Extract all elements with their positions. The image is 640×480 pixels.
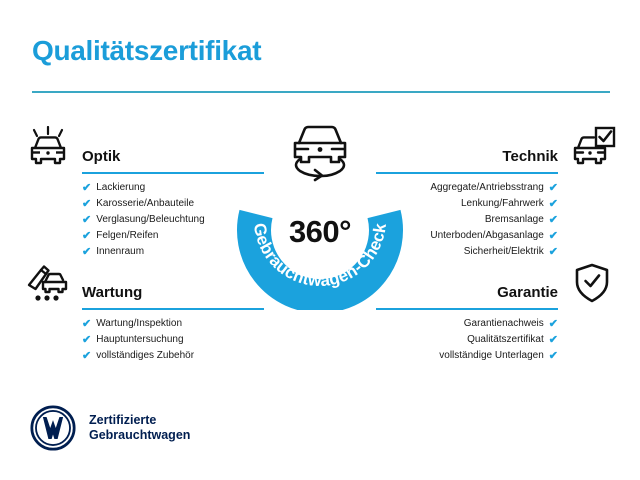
check-icon: ✔ bbox=[549, 335, 558, 346]
list-item: Qualitätszertifikat✔ bbox=[366, 332, 558, 348]
list-item-label: Lackierung bbox=[96, 180, 145, 196]
check-icon: ✔ bbox=[82, 247, 91, 258]
footer-line-2: Gebrauchtwagen bbox=[89, 428, 190, 443]
title-divider bbox=[32, 91, 610, 93]
360-check-badge: Gebrauchtwagen-Check 360° bbox=[236, 120, 404, 310]
section-title: Optik bbox=[82, 149, 120, 164]
check-icon: ✔ bbox=[549, 183, 558, 194]
footer-text: Zertifizierte Gebrauchtwagen bbox=[89, 413, 190, 443]
check-icon: ✔ bbox=[549, 215, 558, 226]
list-item-label: Felgen/Reifen bbox=[96, 228, 158, 244]
check-icon: ✔ bbox=[549, 351, 558, 362]
list-item-label: Innenraum bbox=[96, 244, 144, 260]
title-block: Qualitätszertifikat bbox=[32, 36, 608, 67]
list-item-label: Sicherheit/Elektrik bbox=[464, 244, 544, 260]
check-icon: ✔ bbox=[549, 319, 558, 330]
car-checkbox-icon bbox=[568, 126, 616, 168]
badge-degrees-label: 360° bbox=[236, 216, 404, 247]
list-item-label: Bremsanlage bbox=[485, 212, 544, 228]
list-item: ✔vollständiges Zubehör bbox=[82, 348, 274, 364]
check-icon: ✔ bbox=[549, 247, 558, 258]
list-item-label: vollständiges Zubehör bbox=[96, 348, 194, 364]
list-item-label: Hauptuntersuchung bbox=[96, 332, 183, 348]
check-icon: ✔ bbox=[549, 199, 558, 210]
section-list: Garantienachweis✔ Qualitätszertifikat✔ v… bbox=[366, 316, 616, 364]
shield-check-icon bbox=[568, 262, 616, 304]
list-item: ✔Wartung/Inspektion bbox=[82, 316, 274, 332]
check-icon: ✔ bbox=[82, 199, 91, 210]
list-item-label: Karosserie/Anbauteile bbox=[96, 196, 194, 212]
footer-branding: Zertifizierte Gebrauchtwagen bbox=[30, 405, 190, 451]
section-list: ✔Wartung/Inspektion ✔Hauptuntersuchung ✔… bbox=[24, 316, 274, 364]
check-icon: ✔ bbox=[82, 183, 91, 194]
check-icon: ✔ bbox=[82, 215, 91, 226]
section-title: Technik bbox=[502, 149, 558, 164]
list-item: ✔Hauptuntersuchung bbox=[82, 332, 274, 348]
car-shine-icon bbox=[24, 126, 72, 168]
check-icon: ✔ bbox=[82, 319, 91, 330]
list-item-label: Unterboden/Abgasanlage bbox=[430, 228, 543, 244]
list-item-label: Garantienachweis bbox=[464, 316, 544, 332]
list-item-label: Lenkung/Fahrwerk bbox=[461, 196, 544, 212]
certificate-page: Qualitätszertifikat bbox=[0, 0, 640, 480]
list-item-label: Aggregate/Antriebsstrang bbox=[430, 180, 543, 196]
page-title: Qualitätszertifikat bbox=[32, 36, 608, 67]
section-title: Wartung bbox=[82, 285, 142, 300]
footer-line-1: Zertifizierte bbox=[89, 413, 190, 428]
list-item-label: Verglasung/Beleuchtung bbox=[96, 212, 204, 228]
check-icon: ✔ bbox=[549, 231, 558, 242]
list-item: vollständige Unterlagen✔ bbox=[366, 348, 558, 364]
check-icon: ✔ bbox=[82, 335, 91, 346]
vw-logo bbox=[30, 405, 76, 451]
wrench-car-service-icon bbox=[24, 262, 72, 304]
check-icon: ✔ bbox=[82, 351, 91, 362]
list-item-label: Wartung/Inspektion bbox=[96, 316, 182, 332]
list-item-label: Qualitätszertifikat bbox=[467, 332, 544, 348]
car-front-rotate-icon bbox=[284, 120, 356, 182]
check-icon: ✔ bbox=[82, 231, 91, 242]
list-item-label: vollständige Unterlagen bbox=[439, 348, 544, 364]
section-title: Garantie bbox=[497, 285, 558, 300]
list-item: Garantienachweis✔ bbox=[366, 316, 558, 332]
